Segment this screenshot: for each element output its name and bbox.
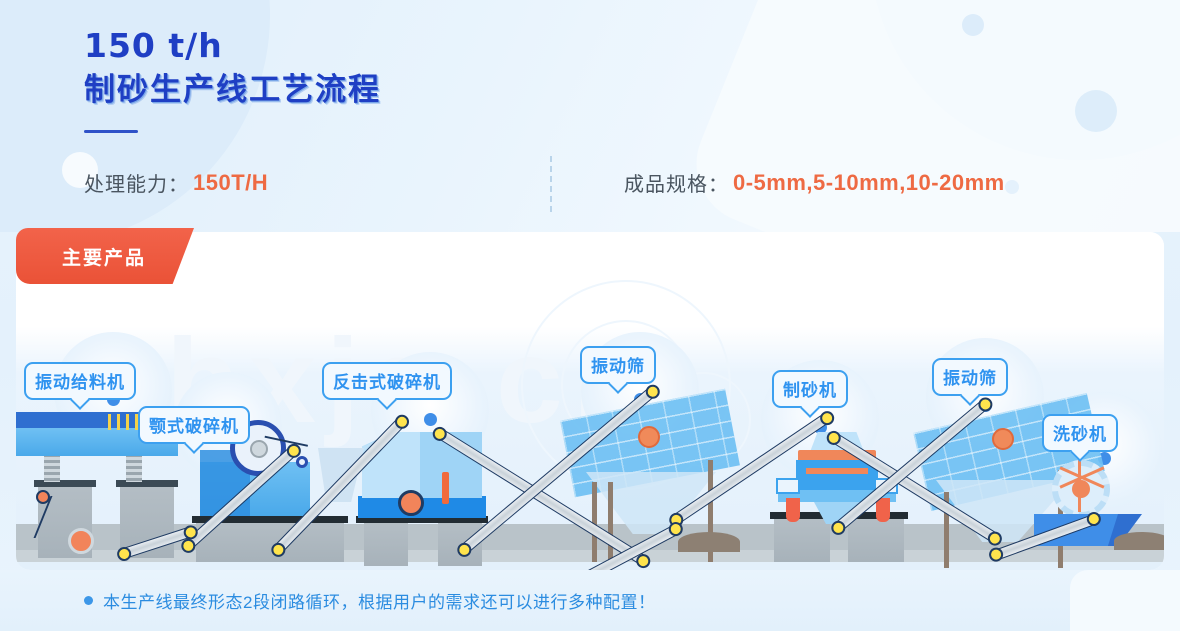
sandmaker-leg-right (876, 498, 890, 522)
product-panel: hxjq.cn (16, 232, 1164, 570)
machine-sand-washer (1034, 482, 1164, 568)
feeder-spring-right (126, 454, 142, 482)
spec-row: 处理能力： 150T/H 成品规格： 0-5mm,5-10mm,10-20mm (84, 168, 1144, 202)
title-capacity: 150 t/h (84, 26, 381, 66)
impact-housing-hatch (362, 432, 420, 498)
jaw-base-block (196, 520, 344, 562)
footer-note: 本生产线最终形态2段闭路循环，根据用户的需求还可以进行多种配置！ (84, 588, 655, 613)
main-products-badge: 主要产品 (16, 228, 194, 284)
sandmaker-motor-left (776, 478, 800, 494)
label-vibrating-feeder[interactable]: 振动给料机 (24, 362, 136, 400)
poster-root: 150 t/h 制砂生产线工艺流程 处理能力： 150T/H 成品规格： 0-5… (0, 0, 1180, 631)
spec-capacity-label: 处理能力： (84, 168, 189, 197)
footer-note-text: 本生产线最终形态2段闭路循环，根据用户的需求还可以进行多种配置！ (103, 588, 655, 613)
product-pile-2 (1114, 532, 1164, 550)
feeder-spring-left (44, 454, 60, 482)
product-pile-1 (678, 532, 740, 552)
spec-output-label: 成品规格： (624, 168, 729, 197)
bullet-icon (84, 596, 93, 605)
decor-dot-3 (1075, 90, 1117, 132)
screen1-support-mid (608, 482, 613, 562)
sandmaker-leg-left (786, 498, 800, 522)
spec-divider (550, 156, 552, 212)
flow-diagram-scene: hxjq.cn (16, 232, 1164, 570)
spec-capacity: 处理能力： 150T/H (84, 168, 268, 197)
main-products-badge-label: 主要产品 (62, 243, 146, 270)
sandmaker-pier-left (774, 518, 830, 562)
sandmaker-crush-chamber (796, 460, 878, 490)
label-sand-washer[interactable]: 洗砂机 (1042, 414, 1118, 452)
impact-pier-left (364, 522, 408, 566)
title-underline (84, 130, 138, 133)
sandmaker-chamber-stripe (806, 468, 868, 474)
label-vibrating-screen-2[interactable]: 振动筛 (932, 358, 1008, 396)
impact-rotor-pulley (398, 490, 424, 516)
decor-dot-2 (962, 14, 984, 36)
spec-output-size: 成品规格： 0-5mm,5-10mm,10-20mm (624, 168, 1005, 197)
washer-wheel-hub (1072, 480, 1090, 498)
washer-spoke-3 (1078, 460, 1081, 512)
label-vibrating-screen-1[interactable]: 振动筛 (580, 346, 656, 384)
label-jaw-crusher[interactable]: 颚式破碎机 (138, 406, 250, 444)
footer-corner-decor (1070, 570, 1180, 631)
label-impact-crusher[interactable]: 反击式破碎机 (322, 362, 452, 400)
title-block: 150 t/h 制砂生产线工艺流程 (84, 26, 381, 133)
spec-output-value: 0-5mm,5-10mm,10-20mm (733, 170, 1005, 196)
label-sand-making-machine[interactable]: 制砂机 (772, 370, 848, 408)
header-banner: 150 t/h 制砂生产线工艺流程 处理能力： 150T/H 成品规格： 0-5… (0, 0, 1180, 232)
title-main: 制砂生产线工艺流程 (84, 68, 381, 112)
screen2-exciter (992, 428, 1014, 450)
sandmaker-pier-right (848, 518, 904, 562)
screen1-exciter (638, 426, 660, 448)
impact-hydraulic-cylinder (442, 472, 449, 504)
spec-capacity-value: 150T/H (193, 170, 268, 196)
